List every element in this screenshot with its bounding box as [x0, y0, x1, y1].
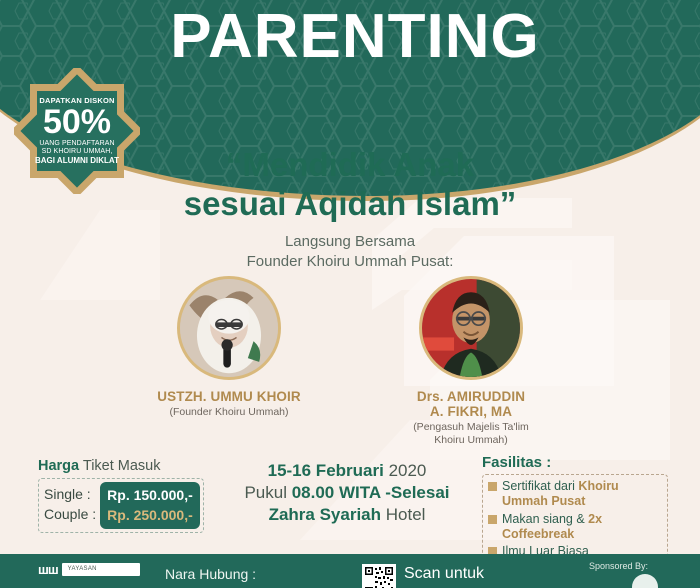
- speaker-2-role-line-2: Khoiru Ummah): [366, 434, 576, 447]
- qr-code-icon[interactable]: [362, 564, 396, 588]
- price-box: Single : Couple : Rp. 150.000,- Rp. 250.…: [38, 478, 204, 533]
- speaker-2-name-line-1: Drs. AMIRUDDIN: [366, 389, 576, 404]
- schedule-block: 15-16 Februari 2020 Pukul 08.00 WITA -Se…: [228, 460, 466, 526]
- facility-2-plain: Makan siang &: [502, 512, 588, 526]
- speaker-2-name-line-2: A. FIKRI, MA: [366, 404, 576, 419]
- qr-code-graphic: [364, 566, 394, 588]
- bullet-square-icon: [488, 482, 497, 491]
- price-title-rest: Tiket Masuk: [79, 458, 160, 474]
- badge-line-3: BAGI ALUMNI DIKLAT: [35, 157, 119, 165]
- facility-text: Makan siang & 2x Coffeebreak: [502, 512, 662, 543]
- speakers-section: USTZH. UMMU KHOIR (Founder Khoiru Ummah): [0, 276, 700, 446]
- subheading-line-2: Founder Khoiru Ummah Pusat:: [0, 252, 700, 272]
- contact-label: Nara Hubung :: [165, 566, 256, 582]
- schedule-date: 15-16 Februari 2020: [228, 460, 466, 482]
- organizer-logo-box: YAYASAN: [62, 563, 140, 576]
- badge-line-2: SD KHOIRU UMMAH,: [42, 148, 113, 155]
- poster-canvas: DIKLAT PARENTING DAPATKAN DISKON 50% UAN…: [0, 0, 700, 588]
- sponsor-logo-icon: [632, 574, 658, 588]
- poster-title: DIKLAT PARENTING: [0, 0, 700, 68]
- speaker-2-avatar: [419, 276, 523, 380]
- speaker-2-name: Drs. AMIRUDDIN A. FIKRI, MA: [366, 389, 576, 419]
- schedule-venue: Zahra Syariah Hotel: [228, 504, 466, 526]
- price-rows: Single : Couple : Rp. 150.000,- Rp. 250.…: [42, 482, 200, 529]
- discount-badge: DAPATKAN DISKON 50% UANG PENDAFTARAN SD …: [14, 68, 140, 194]
- bullet-square-icon: [488, 515, 497, 524]
- facilities-title: Fasilitas :: [482, 454, 668, 471]
- man-glasses-photo-icon: [422, 279, 520, 377]
- subheading-line-1: Langsung Bersama: [0, 232, 700, 252]
- speaker-card-1: USTZH. UMMU KHOIR (Founder Khoiru Ummah): [124, 276, 334, 446]
- facility-item: Makan siang & 2x Coffeebreak: [488, 512, 662, 543]
- sponsor-label: Sponsored By:: [589, 561, 648, 571]
- schedule-venue-bold: Zahra Syariah: [269, 505, 381, 524]
- schedule-date-year: 2020: [384, 461, 427, 480]
- price-label-couple: Couple :: [44, 504, 96, 524]
- organizer-logo: шш YAYASAN: [38, 562, 140, 577]
- schedule-time: Pukul 08.00 WITA -Selesai: [228, 482, 466, 504]
- schedule-time-bold: 08.00 WITA -Selesai: [292, 483, 450, 502]
- price-value-couple: Rp. 250.000,-: [107, 505, 193, 525]
- price-values: Rp. 150.000,- Rp. 250.000,-: [100, 482, 200, 529]
- woman-hijab-photo-icon: [180, 279, 278, 377]
- badge-percent: 50%: [43, 105, 111, 139]
- schedule-venue-rest: Hotel: [381, 505, 425, 524]
- organizer-mark-icon: шш: [38, 562, 58, 577]
- event-subheading: Langsung Bersama Founder Khoiru Ummah Pu…: [0, 232, 700, 271]
- price-labels: Single : Couple :: [42, 482, 100, 529]
- speaker-1-name: USTZH. UMMU KHOIR: [124, 389, 334, 404]
- footer-bar: шш YAYASAN Nara Hubung :: [0, 554, 700, 588]
- facility-item: Sertifikat dari Khoiru Ummah Pusat: [488, 479, 662, 510]
- title-line-2: PARENTING: [0, 7, 700, 68]
- facility-text: Sertifikat dari Khoiru Ummah Pusat: [502, 479, 662, 510]
- scan-label: Scan untuk: [404, 565, 484, 583]
- event-details-row: Harga Tiket Masuk Single : Couple : Rp. …: [0, 452, 700, 544]
- speaker-2-role: (Pengasuh Majelis Ta'lim Khoiru Ummah): [366, 421, 576, 446]
- schedule-time-prefix: Pukul: [244, 483, 291, 502]
- price-value-single: Rp. 150.000,-: [107, 485, 193, 505]
- facilities-block: Fasilitas : Sertifikat dari Khoiru Ummah…: [482, 454, 668, 567]
- speaker-card-2: Drs. AMIRUDDIN A. FIKRI, MA (Pengasuh Ma…: [366, 276, 576, 446]
- price-title-bold: Harga: [38, 458, 79, 474]
- price-block: Harga Tiket Masuk Single : Couple : Rp. …: [38, 458, 228, 533]
- facility-1-plain: Sertifikat dari: [502, 479, 578, 493]
- speaker-2-role-line-1: (Pengasuh Majelis Ta'lim: [366, 421, 576, 434]
- speaker-1-role: (Founder Khoiru Ummah): [124, 406, 334, 419]
- speaker-1-avatar: [177, 276, 281, 380]
- discount-badge-text: DAPATKAN DISKON 50% UANG PENDAFTARAN SD …: [14, 68, 140, 194]
- price-title: Harga Tiket Masuk: [38, 458, 228, 474]
- price-label-single: Single :: [44, 484, 96, 504]
- schedule-date-bold: 15-16 Februari: [268, 461, 384, 480]
- badge-line-1: UANG PENDAFTARAN: [39, 140, 114, 147]
